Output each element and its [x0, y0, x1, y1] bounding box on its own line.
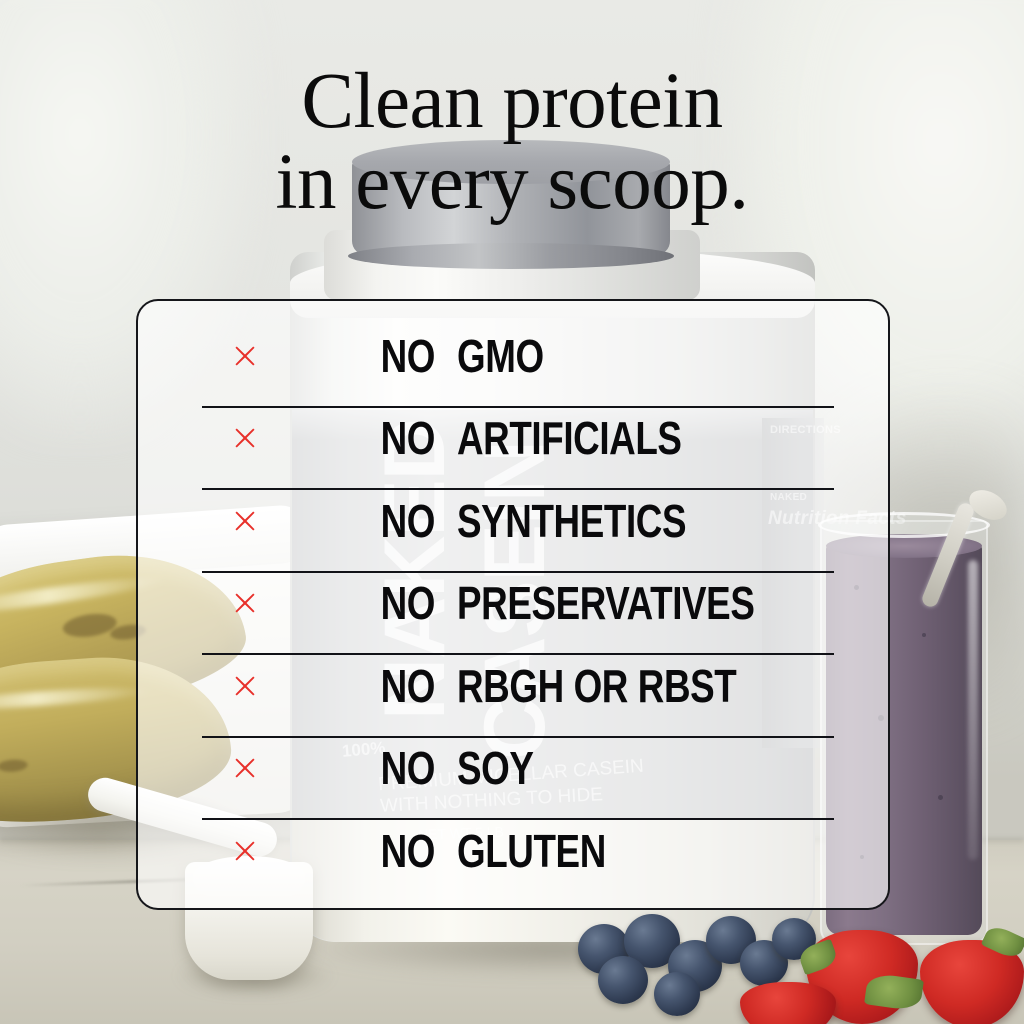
no-item-text: GMO [457, 329, 544, 383]
headline-line-2: in every scoop. [0, 143, 1024, 224]
no-list-row: NOSYNTHETICS [138, 488, 890, 553]
row-divider [202, 571, 834, 573]
no-item-text: PRESERVATIVES [457, 576, 754, 630]
no-list-row: NORBGH OR RBST [138, 653, 890, 718]
no-prefix: NO [197, 659, 435, 713]
strawberry [740, 982, 836, 1024]
headline: Clean protein in every scoop. [0, 62, 1024, 223]
no-prefix: NO [197, 576, 435, 630]
no-list: NOGMONOARTIFICIALSNOSYNTHETICSNOPRESERVA… [138, 301, 888, 908]
no-list-label: NOGMO [138, 329, 890, 383]
no-prefix: NO [197, 494, 435, 548]
no-prefix: NO [197, 411, 435, 465]
no-item-text: ARTIFICIALS [457, 411, 682, 465]
blueberry [598, 956, 648, 1004]
no-list-label: NORBGH OR RBST [138, 659, 890, 713]
headline-line-1: Clean protein [0, 62, 1024, 143]
no-list-row: NOGMO [138, 323, 890, 388]
no-item-text: RBGH OR RBST [457, 659, 736, 713]
no-list-panel: NOGMONOARTIFICIALSNOSYNTHETICSNOPRESERVA… [136, 299, 890, 910]
row-divider [202, 818, 834, 820]
no-item-text: GLUTEN [457, 824, 606, 878]
glass-highlight [968, 560, 978, 860]
row-divider [202, 736, 834, 738]
promo-graphic: NAKED CASEIN 100% PREMIUM MICELLAR CASEI… [0, 0, 1024, 1024]
no-prefix: NO [197, 741, 435, 795]
row-divider [202, 406, 834, 408]
no-list-row: NOPRESERVATIVES [138, 571, 890, 636]
protein-tub-lid-ring [348, 243, 674, 269]
no-list-label: NOSYNTHETICS [138, 494, 890, 548]
no-list-label: NOARTIFICIALS [138, 411, 890, 465]
no-list-row: NOSOY [138, 736, 890, 801]
no-prefix: NO [197, 824, 435, 878]
blueberry [654, 972, 700, 1016]
row-divider [202, 488, 834, 490]
row-divider [202, 653, 834, 655]
no-prefix: NO [197, 329, 435, 383]
no-list-label: NOPRESERVATIVES [138, 576, 890, 630]
no-list-row: NOARTIFICIALS [138, 406, 890, 471]
no-item-text: SYNTHETICS [457, 494, 686, 548]
no-list-label: NOSOY [138, 741, 890, 795]
no-list-row: NOGLUTEN [138, 818, 890, 883]
no-list-label: NOGLUTEN [138, 824, 890, 878]
no-item-text: SOY [457, 741, 534, 795]
